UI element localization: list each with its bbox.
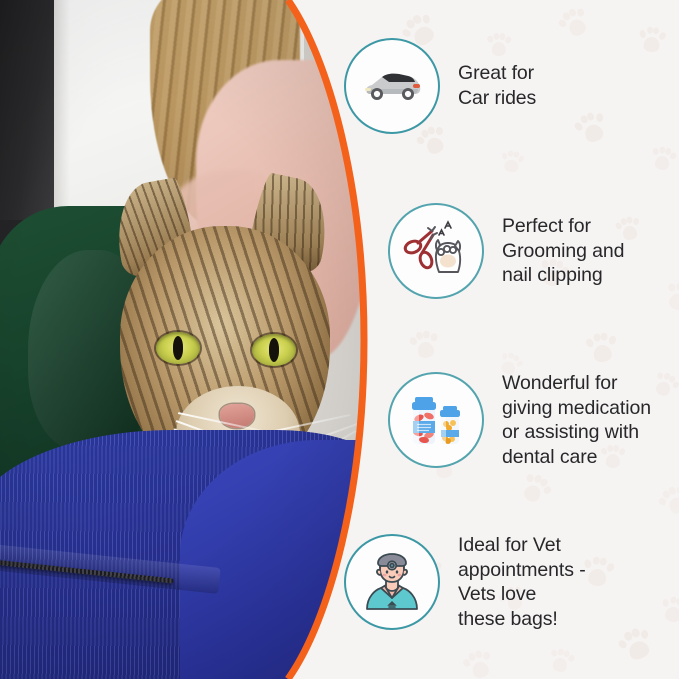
feature-icon-circle (344, 38, 440, 134)
feature-icon-circle (388, 372, 484, 468)
product-photo (0, 0, 380, 679)
feature-item-grooming: Perfect for Grooming and nail clipping (388, 203, 624, 299)
car-icon (355, 49, 429, 123)
feature-label: Wonderful for giving medication or assis… (502, 371, 651, 469)
photo-vignette (0, 0, 380, 679)
feature-label: Perfect for Grooming and nail clipping (502, 214, 624, 288)
nail-clipper-paw-icon (401, 216, 471, 286)
feature-item-medication: Wonderful for giving medication or assis… (388, 371, 651, 469)
feature-icon-circle (344, 534, 440, 630)
feature-icon-circle (388, 203, 484, 299)
feature-list: Great for Car rides (336, 0, 679, 679)
feature-item-vet: Ideal for Vet appointments - Vets love t… (344, 533, 586, 631)
veterinarian-icon (355, 545, 429, 619)
product-feature-infographic: Great for Car rides (0, 0, 679, 679)
pill-bottles-icon (399, 383, 473, 457)
feature-item-car-rides: Great for Car rides (344, 38, 536, 134)
feature-label: Great for Car rides (458, 61, 536, 110)
feature-label: Ideal for Vet appointments - Vets love t… (458, 533, 586, 631)
